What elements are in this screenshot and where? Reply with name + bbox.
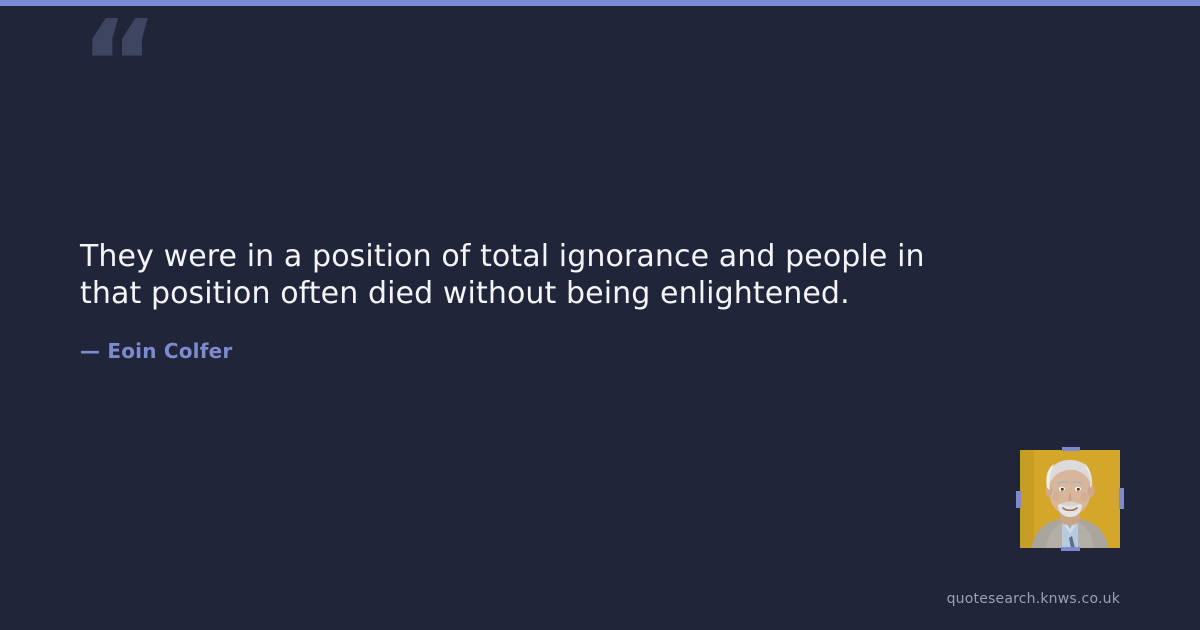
top-accent-bar — [0, 0, 1200, 6]
resize-handle-bottom-icon[interactable] — [1061, 547, 1080, 551]
site-watermark: quotesearch.knws.co.uk — [947, 591, 1120, 607]
author-portrait-image[interactable] — [1020, 450, 1120, 548]
resize-handle-left-icon[interactable] — [1016, 491, 1021, 508]
quote-block: They were in a position of total ignoran… — [80, 238, 1000, 312]
attribution-text: — Eoin Colfer — [80, 339, 232, 363]
resize-handle-top-icon[interactable] — [1062, 447, 1080, 451]
opening-quote-icon: “ — [80, 6, 157, 126]
quote-line-2: that position often died without being e… — [80, 275, 1000, 312]
resize-handle-right-icon[interactable] — [1119, 488, 1124, 509]
quote-line-1: They were in a position of total ignoran… — [80, 238, 1000, 275]
quote-card: “ They were in a position of total ignor… — [0, 0, 1200, 630]
attribution: — Eoin Colfer — [80, 339, 232, 363]
author-portrait[interactable] — [1020, 450, 1120, 548]
